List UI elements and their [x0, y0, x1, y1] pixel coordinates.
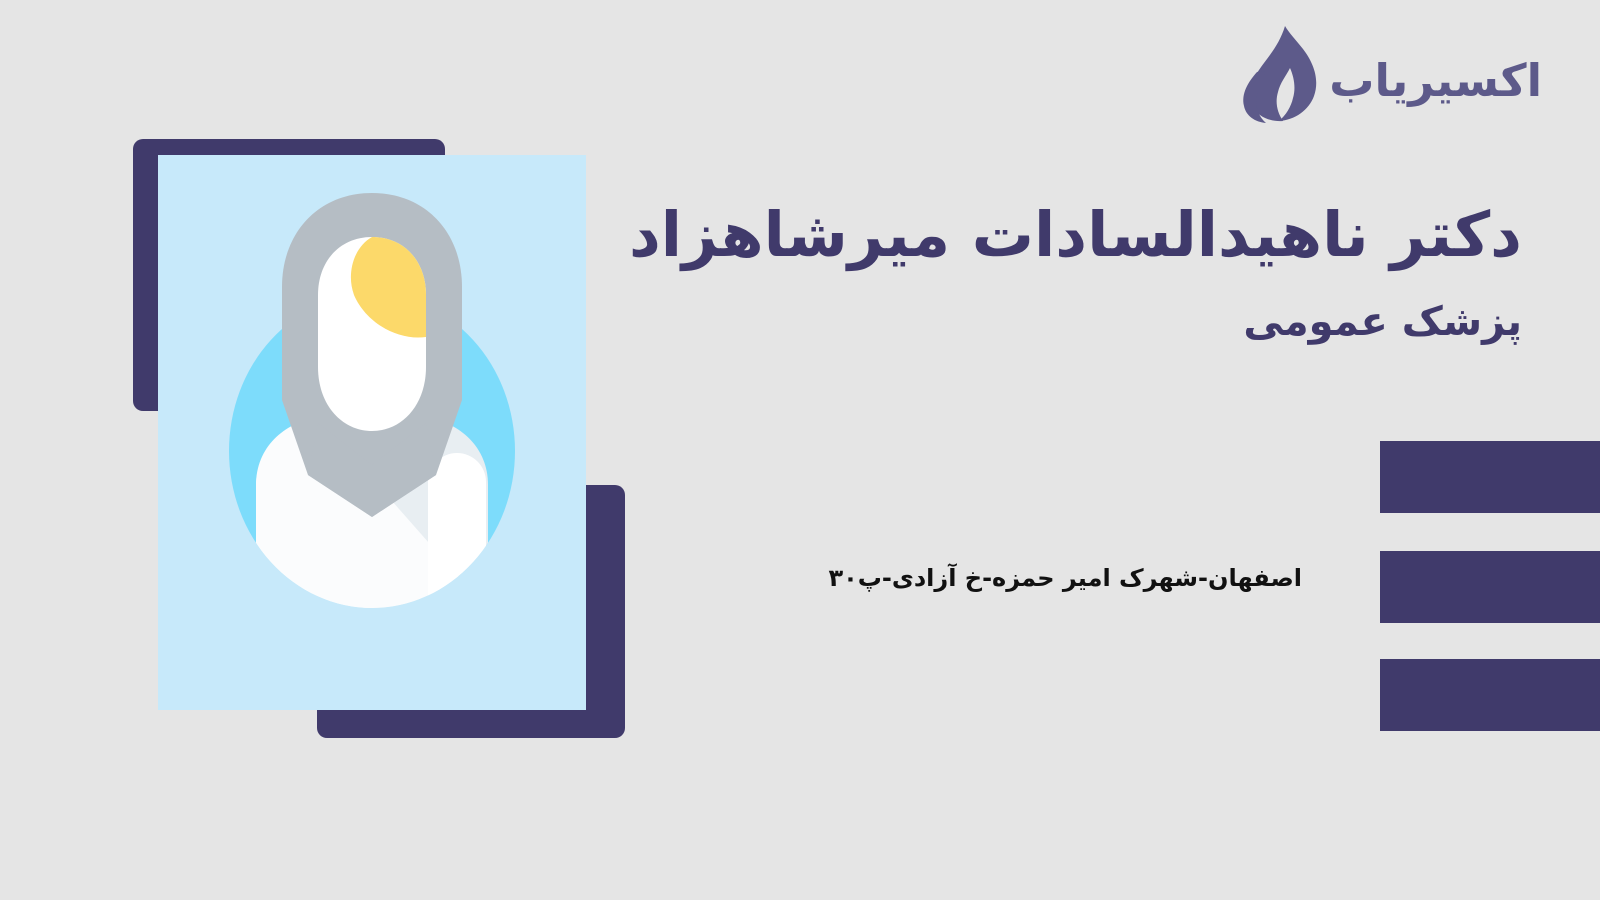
profile-card-canvas: اکسیریاب — [0, 0, 1600, 900]
illustration-group — [0, 0, 700, 900]
brand-wordmark: اکسیریاب — [1329, 58, 1542, 103]
profile-text-block: دکتر ناهیدالسادات میرشاهزاد پزشک عمومی — [522, 196, 1522, 348]
flame-icon — [1233, 24, 1319, 124]
decorative-bar — [1380, 441, 1600, 513]
doctor-name: دکتر ناهیدالسادات میرشاهزاد — [522, 196, 1522, 274]
doctor-specialty: پزشک عمومی — [522, 296, 1522, 348]
decorative-bar — [1380, 551, 1600, 623]
doctor-address: اصفهان-شهرک امیر حمزه-خ آزادی-پ۳۰ — [828, 562, 1302, 596]
decorative-bars — [1330, 441, 1600, 731]
brand-logo[interactable]: اکسیریاب — [1233, 24, 1542, 124]
decorative-bar — [1380, 659, 1600, 731]
